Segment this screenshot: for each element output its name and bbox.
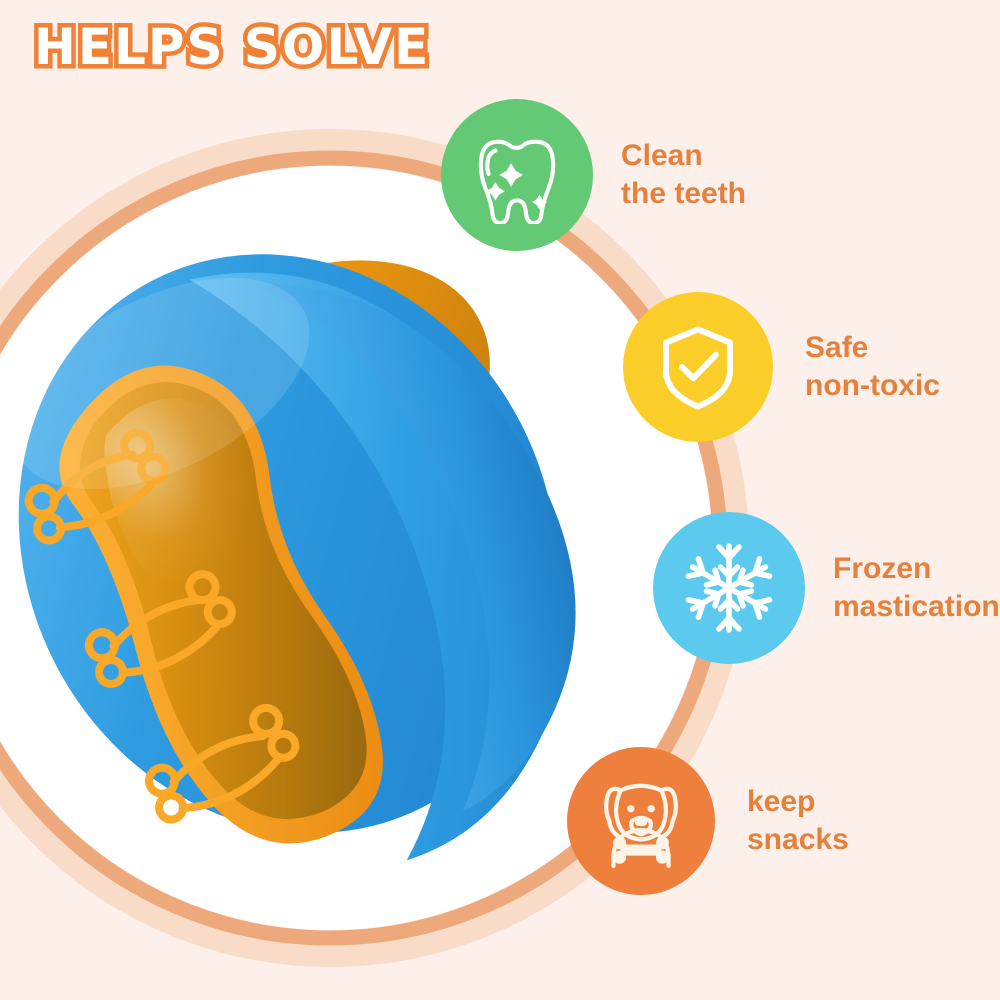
page-title: HELPS SOLVE [34,20,430,75]
feature-item-clean-teeth[interactable]: Clean the teeth [441,99,746,251]
feature-badge-frozen-mastication [653,512,805,664]
feature-badge-clean-teeth [441,99,593,251]
feature-item-keep-snacks[interactable]: keep snacks [567,747,849,895]
feature-label-keep-snacks: keep snacks [747,783,849,860]
feature-item-frozen-mastication[interactable]: Frozen mastication [653,512,1000,664]
feature-badge-keep-snacks [567,747,715,895]
dog-with-bone-icon [590,770,692,872]
feature-label-frozen-mastication: Frozen mastication [833,550,1000,627]
toy-body [10,195,600,875]
feature-label-clean-teeth: Clean the teeth [621,137,746,214]
infographic-poster: HELPS SOLVE [0,0,1000,1000]
feature-badge-safe-non-toxic [623,292,773,442]
feature-item-safe-non-toxic[interactable]: Safe non-toxic [623,292,940,442]
sparkles [486,163,547,209]
snowflake-icon [679,538,779,638]
feature-label-safe-non-toxic: Safe non-toxic [805,329,940,406]
product-image [10,195,600,875]
tooth-sparkle-icon [468,126,566,224]
shield-check-icon [651,320,745,414]
